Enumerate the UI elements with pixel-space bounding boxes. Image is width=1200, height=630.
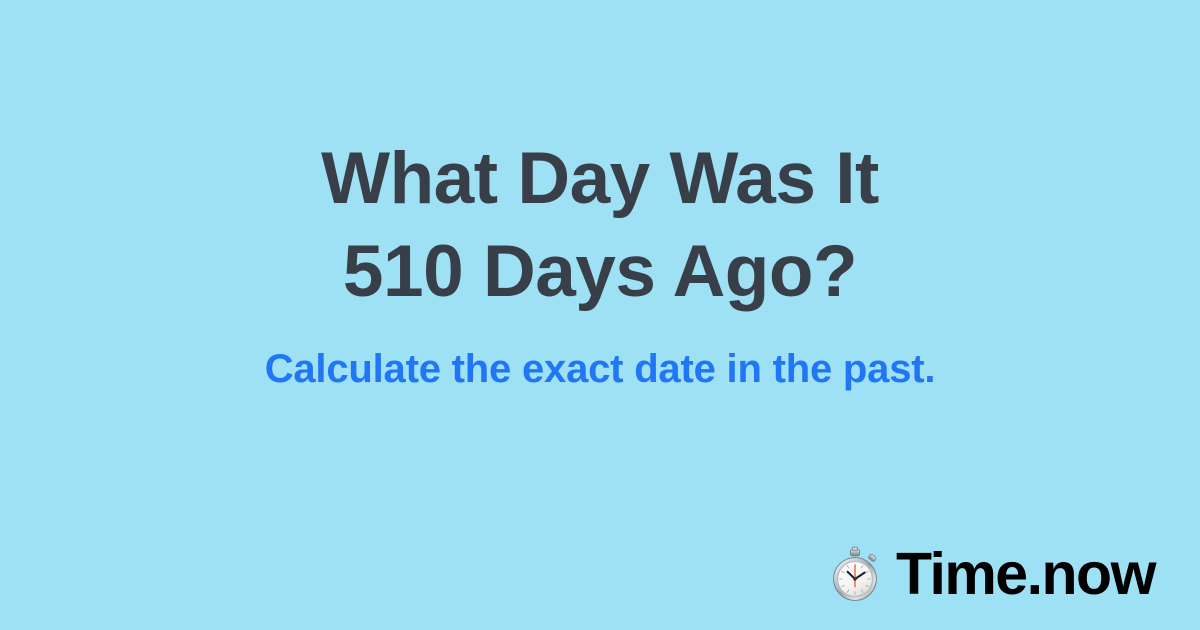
page-title: What Day Was It 510 Days Ago? (0, 132, 1200, 318)
hero-block: What Day Was It 510 Days Ago? Calculate … (0, 132, 1200, 392)
page-title-line-2: 510 Days Ago? (0, 225, 1200, 318)
og-card: What Day Was It 510 Days Ago? Calculate … (0, 0, 1200, 630)
brand-lockup: Time.now (828, 544, 1155, 604)
stopwatch-icon (828, 546, 882, 602)
page-title-line-1: What Day Was It (0, 132, 1200, 225)
page-subtitle: Calculate the exact date in the past. (0, 318, 1200, 392)
brand-name: Time.now (896, 544, 1155, 604)
